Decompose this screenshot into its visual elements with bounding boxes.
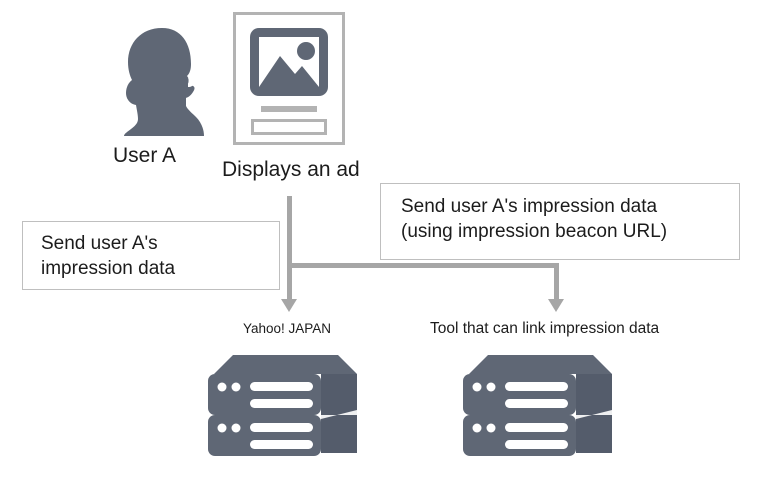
callout-box-right: Send user A's impression data (using imp… bbox=[380, 183, 740, 260]
connector-horizontal-branch bbox=[287, 263, 559, 268]
user-a-label: User A bbox=[113, 144, 176, 168]
callout-right-line-1: Send user A's impression data bbox=[401, 194, 739, 219]
connector-vertical-main bbox=[287, 196, 292, 300]
connector-vertical-right bbox=[554, 263, 559, 300]
ad-display-icon bbox=[233, 12, 345, 150]
user-head-silhouette-icon bbox=[122, 26, 208, 143]
server-stack-icon-tool bbox=[455, 352, 615, 479]
server-stack-icon-yahoo bbox=[200, 352, 360, 479]
callout-left-line-1: Send user A's bbox=[41, 231, 279, 256]
diagram-canvas: User A Displays an ad Send user A's impr… bbox=[0, 0, 759, 479]
tool-label: Tool that can link impression data bbox=[430, 320, 659, 338]
callout-box-left: Send user A's impression data bbox=[22, 221, 280, 290]
displays-an-ad-label: Displays an ad bbox=[222, 158, 360, 182]
callout-left-line-2: impression data bbox=[41, 256, 279, 281]
arrow-down-icon-right bbox=[548, 299, 564, 312]
arrow-down-icon-left bbox=[281, 299, 297, 312]
callout-right-line-2: (using impression beacon URL) bbox=[401, 219, 739, 244]
yahoo-japan-label: Yahoo! JAPAN bbox=[243, 321, 331, 337]
